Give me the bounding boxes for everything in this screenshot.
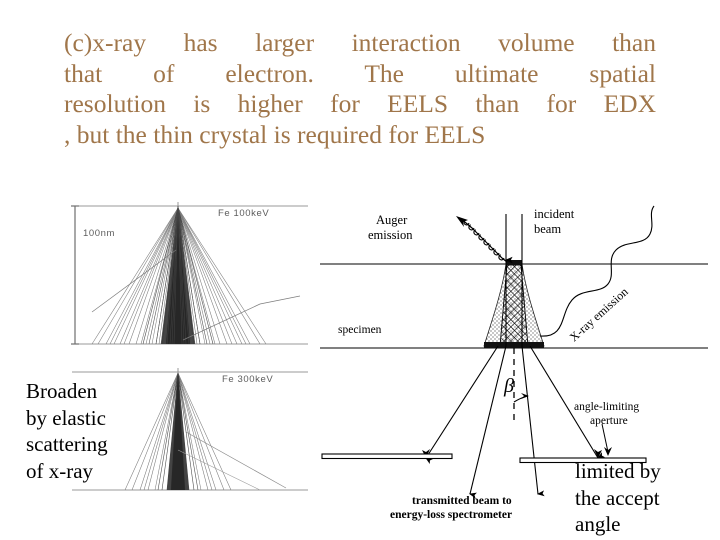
label-aperture-line1: angle-limiting [574,401,639,413]
annotation-broaden-line-4: of x-ray [26,458,108,485]
title-line-1: (c)x-ray has larger interaction volume t… [64,28,656,59]
scale-bar-label: 100nm [83,228,115,239]
label-specimen: specimen [338,324,382,336]
annotation-broaden-line-2: by elastic [26,405,108,432]
title-line-4: , but the thin crystal is required for E… [64,120,656,151]
auger-emission-arrow [456,216,507,262]
transmitted-rays [426,346,598,494]
exit-band [484,342,544,348]
label-transmitted-line2: energy-loss spectrometer [390,509,512,521]
label-xray-emission: X-ray emission [567,285,631,345]
label-incident-line2: beam [534,222,561,236]
label-auger-line1: Auger [376,213,408,227]
label-transmitted-line1: transmitted beam to [412,495,512,507]
panel-label-300kev: Fe 300keV [222,374,273,385]
annotation-limited-line-1: limited by [575,458,661,485]
label-auger-line2: emission [368,228,413,242]
annotation-limited: limited by the accept angle [575,458,661,538]
annotation-broaden-line-1: Broaden [26,378,108,405]
annotation-limited-line-2: the accept [575,485,661,512]
label-aperture-line2: aperture [590,415,628,427]
page-title: (c)x-ray has larger interaction volume t… [64,28,656,150]
annotation-limited-line-3: angle [575,511,661,538]
beta-label: β [503,375,514,397]
annotation-broaden: Broaden by elastic scattering of x-ray [26,378,108,484]
panel-label-100kev: Fe 100keV [218,208,269,219]
label-incident-line1: incident [534,207,575,221]
annotation-broaden-line-3: scattering [26,431,108,458]
slide-canvas: (c)x-ray has larger interaction volume t… [0,0,720,540]
title-line-3: resolution is higher for EELS than for E… [64,89,656,120]
beam-entry-spot [506,260,522,265]
title-line-2: that of electron. The ultimate spatial [64,59,656,90]
